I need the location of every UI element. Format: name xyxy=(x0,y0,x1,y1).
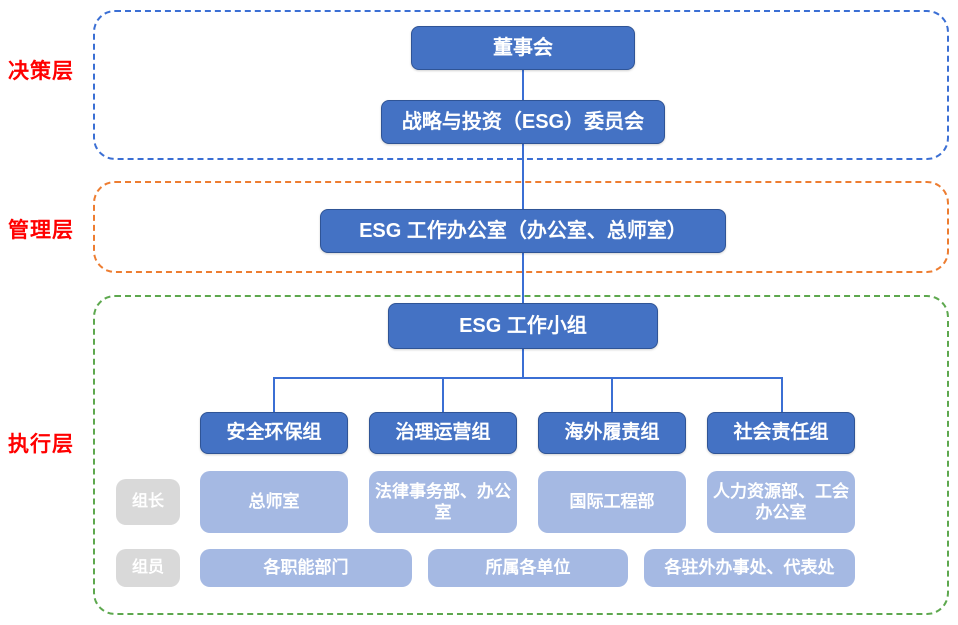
connector-drop-group-2 xyxy=(442,377,444,412)
layer-label-decision: 决策层 xyxy=(8,55,74,85)
node-strategy-investment-esg-committee[interactable]: 战略与投资（ESG）委员会 xyxy=(381,100,665,144)
connector-board-to-committee xyxy=(522,70,524,100)
connector-committee-to-office xyxy=(522,144,524,209)
node-esg-working-group[interactable]: ESG 工作小组 xyxy=(388,303,658,349)
cell-leader-governance-operations[interactable]: 法律事务部、办公室 xyxy=(369,471,517,533)
node-esg-working-office[interactable]: ESG 工作办公室（办公室、总师室） xyxy=(320,209,726,253)
row-label-member: 组员 xyxy=(116,549,180,587)
cell-member-affiliated-units[interactable]: 所属各单位 xyxy=(428,549,628,587)
row-label-leader: 组长 xyxy=(116,479,180,525)
cell-leader-overseas-responsibility[interactable]: 国际工程部 xyxy=(538,471,686,533)
node-group-governance-operations[interactable]: 治理运营组 xyxy=(369,412,517,454)
connector-drop-group-1 xyxy=(273,377,275,412)
org-chart-canvas: 决策层 管理层 执行层 董事会 战略与投资（ESG）委员会 ESG 工作办公室（… xyxy=(0,0,958,625)
node-group-safety-environment[interactable]: 安全环保组 xyxy=(200,412,348,454)
cell-member-functional-departments[interactable]: 各职能部门 xyxy=(200,549,412,587)
connector-drop-group-3 xyxy=(611,377,613,412)
cell-leader-safety-environment[interactable]: 总师室 xyxy=(200,471,348,533)
layer-label-execution: 执行层 xyxy=(8,428,74,458)
layer-label-management: 管理层 xyxy=(8,214,74,244)
cell-leader-social-responsibility[interactable]: 人力资源部、工会办公室 xyxy=(707,471,855,533)
connector-drop-group-4 xyxy=(781,377,783,412)
node-group-social-responsibility[interactable]: 社会责任组 xyxy=(707,412,855,454)
connector-office-to-workgroup xyxy=(522,253,524,303)
connector-workgroup-stem xyxy=(522,349,524,377)
node-group-overseas-responsibility[interactable]: 海外履责组 xyxy=(538,412,686,454)
cell-member-overseas-offices[interactable]: 各驻外办事处、代表处 xyxy=(644,549,855,587)
connector-bus-bar xyxy=(273,377,783,379)
node-board-of-directors[interactable]: 董事会 xyxy=(411,26,635,70)
